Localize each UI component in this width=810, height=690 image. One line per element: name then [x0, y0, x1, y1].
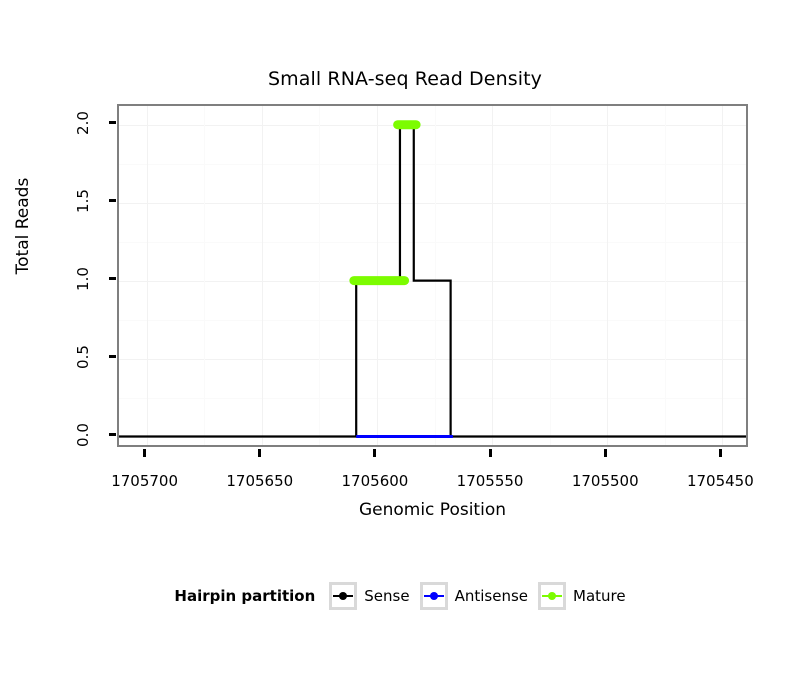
legend-title: Hairpin partition	[174, 587, 315, 605]
legend-label: Antisense	[455, 587, 528, 605]
legend-label: Sense	[364, 587, 409, 605]
y-tick-label: 1.5	[74, 181, 92, 221]
legend-key-dot	[430, 592, 438, 600]
plot-panel	[117, 104, 748, 447]
x-tick-label: 1705600	[315, 472, 435, 490]
x-tick-label: 1705450	[660, 472, 780, 490]
x-tick-mark	[143, 449, 146, 457]
x-tick-label: 1705650	[200, 472, 320, 490]
y-tick-label: 0.5	[74, 337, 92, 377]
y-tick-label: 1.0	[74, 259, 92, 299]
y-tick-label: 0.0	[74, 415, 92, 455]
legend-entry-list: SenseAntisenseMature	[329, 582, 635, 610]
x-tick-label: 1705500	[545, 472, 665, 490]
x-tick-mark	[604, 449, 607, 457]
x-axis-title: Genomic Position	[117, 500, 748, 520]
x-tick-mark	[719, 449, 722, 457]
y-axis-title: Total Reads	[13, 126, 33, 326]
legend-item-sense[interactable]: Sense	[329, 582, 409, 610]
legend-item-mature[interactable]: Mature	[538, 582, 626, 610]
y-tick-mark	[109, 277, 116, 280]
x-tick-label: 1705550	[430, 472, 550, 490]
y-tick-mark	[109, 433, 116, 436]
x-tick-label: 1705700	[85, 472, 205, 490]
legend-key-mature-icon	[538, 582, 566, 610]
legend-key-sense-icon	[329, 582, 357, 610]
data-series-layer	[119, 106, 748, 447]
legend-item-antisense[interactable]: Antisense	[420, 582, 528, 610]
x-tick-mark	[373, 449, 376, 457]
legend-key-dot	[339, 592, 347, 600]
x-tick-mark	[258, 449, 261, 457]
legend-key-dot	[548, 592, 556, 600]
chart-root: Small RNA-seq Read Density 0.00.51.01.52…	[0, 0, 810, 690]
y-tick-mark	[109, 199, 116, 202]
x-tick-mark	[489, 449, 492, 457]
legend-key-antisense-icon	[420, 582, 448, 610]
legend: Hairpin partition SenseAntisenseMature	[0, 582, 810, 610]
legend-label: Mature	[573, 587, 626, 605]
y-tick-mark	[109, 121, 116, 124]
y-tick-mark	[109, 355, 116, 358]
y-tick-label: 2.0	[74, 103, 92, 143]
series-line-sense	[119, 125, 748, 437]
page-title: Small RNA-seq Read Density	[0, 68, 810, 90]
